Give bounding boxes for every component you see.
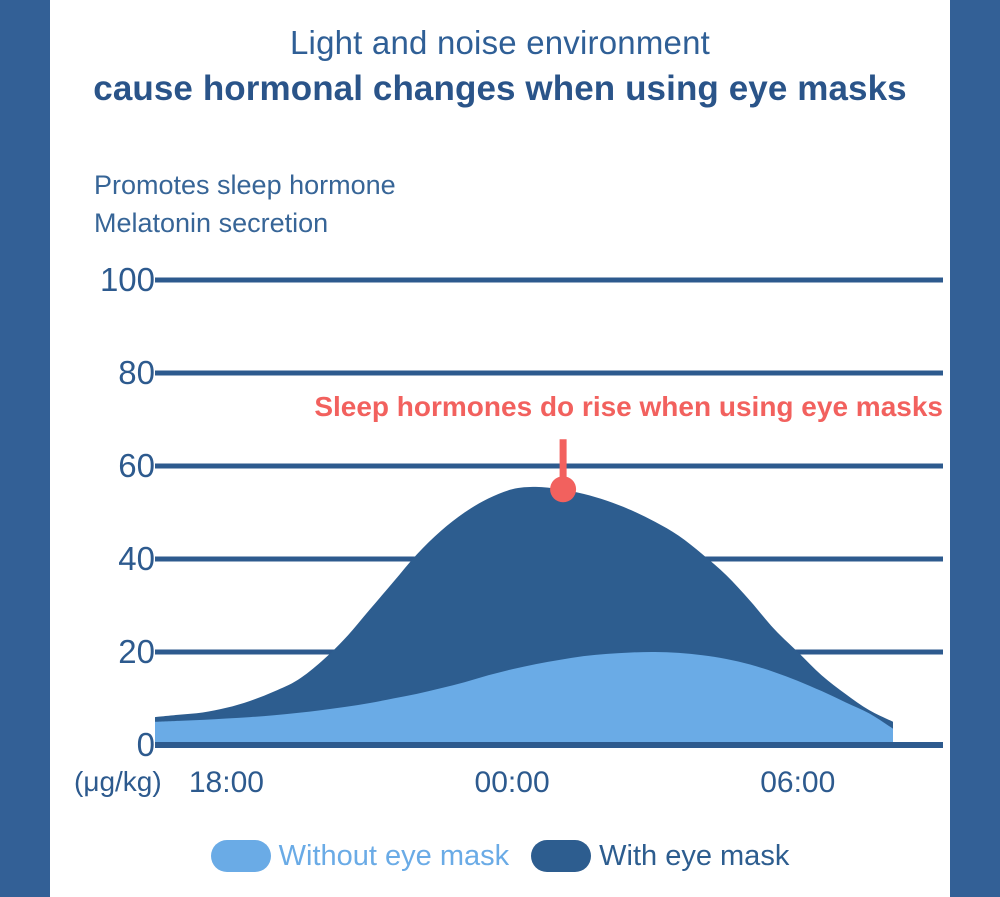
- chart-legend: Without eye maskWith eye mask: [50, 840, 950, 872]
- plot-area: 100806040200 (μg/kg) 18:0000:0006:00Slee…: [50, 0, 950, 897]
- y-tick-label-60: 60: [85, 447, 155, 485]
- legend-label: Without eye mask: [279, 842, 509, 871]
- x-axis-unit-label: (μg/kg): [74, 766, 162, 798]
- x-tick-label-1800: 18:00: [189, 766, 264, 800]
- y-axis-ticks: 100806040200: [70, 0, 155, 897]
- y-tick-label-40: 40: [85, 540, 155, 578]
- legend-item[interactable]: Without eye mask: [211, 840, 509, 872]
- annotation-text: Sleep hormones do rise when using eye ma…: [314, 391, 943, 423]
- left-side-band: [0, 0, 50, 897]
- area-chart-svg: [50, 0, 950, 897]
- y-tick-label-80: 80: [85, 354, 155, 392]
- legend-swatch-icon: [531, 840, 591, 872]
- right-side-band: [950, 0, 1000, 897]
- peak-marker-dot: [550, 476, 576, 502]
- y-tick-label-20: 20: [85, 633, 155, 671]
- x-tick-label-0000: 00:00: [475, 766, 550, 800]
- y-tick-label-0: 0: [85, 726, 155, 764]
- y-tick-label-100: 100: [85, 261, 155, 299]
- chart-canvas: Light and noise environment cause hormon…: [50, 0, 950, 897]
- legend-swatch-icon: [211, 840, 271, 872]
- infographic-page: Light and noise environment cause hormon…: [0, 0, 1000, 897]
- x-tick-label-0600: 06:00: [760, 766, 835, 800]
- legend-item[interactable]: With eye mask: [531, 840, 789, 872]
- legend-label: With eye mask: [599, 842, 789, 871]
